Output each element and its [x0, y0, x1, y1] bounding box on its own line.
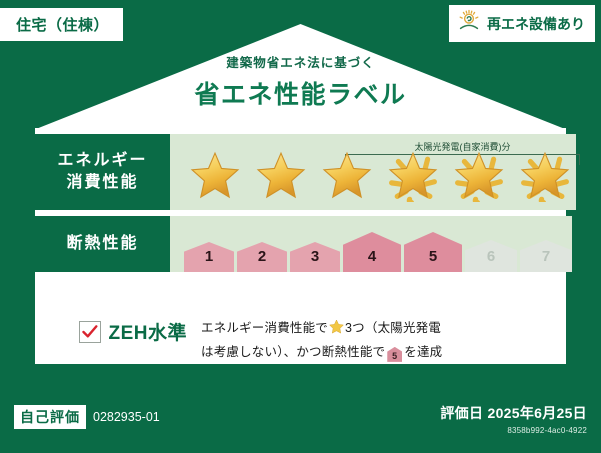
- star-icon: [386, 148, 440, 202]
- star-solar: [382, 146, 444, 204]
- star-icon: [188, 148, 242, 202]
- evaluation-id: 0282935-01: [93, 410, 160, 424]
- insulation-grade-7: 7: [520, 226, 572, 272]
- evaluation-type-tag: 自己評価: [14, 405, 86, 429]
- label-uuid: 8358b992-4ac0-4922: [440, 426, 587, 435]
- title-block: 建築物省エネ法に基づく 省エネ性能ラベル: [0, 52, 601, 111]
- zeh-section: ZEH水準 エネルギー消費性能で3つ（太陽光発電 は考慮しない）、かつ断熱性能で…: [35, 318, 566, 364]
- insulation-grade-3: 3: [290, 226, 340, 272]
- star-solar: [514, 146, 576, 204]
- evaluation-date-value: 2025年6月25日: [487, 405, 587, 421]
- insulation-grade-4: 4: [343, 226, 401, 272]
- star-icon: [452, 148, 506, 202]
- star-icon: [254, 148, 308, 202]
- insulation-row-value: 1234567: [170, 216, 572, 272]
- grade-number: 6: [487, 249, 495, 272]
- house-icon: 1: [184, 242, 234, 272]
- grade-number: 3: [311, 249, 319, 272]
- renewable-badge-label: 再エネ設備あり: [487, 14, 585, 34]
- energy-row-key: エネルギー 消費性能: [35, 134, 170, 210]
- performance-rows: エネルギー 消費性能 太陽光発電(自家消費)分: [35, 134, 566, 278]
- insulation-row-key: 断熱性能: [35, 216, 170, 272]
- check-icon: [82, 325, 98, 339]
- title-subtitle: 建築物省エネ法に基づく: [0, 52, 601, 71]
- energy-key-line1: エネルギー: [57, 150, 147, 172]
- grade-number: 1: [205, 249, 213, 272]
- zeh-desc-line2b: を達成: [404, 345, 442, 359]
- evaluation-date-label: 評価日: [440, 405, 483, 421]
- inline-star-icon: [329, 319, 344, 342]
- house-icon: 3: [290, 242, 340, 272]
- energy-row-value: 太陽光発電(自家消費)分: [170, 134, 576, 210]
- sun-solar-icon: [457, 9, 481, 38]
- energy-key-line2: 消費性能: [66, 172, 138, 194]
- grade-number: 7: [542, 249, 550, 272]
- energy-performance-label: 住宅（住棟） 再エネ設備あり 建築物省エネ法に基づく 省エネ性: [0, 0, 601, 453]
- star-icon: [518, 148, 572, 202]
- insulation-grade-1: 1: [184, 226, 234, 272]
- zeh-checkbox[interactable]: [79, 321, 101, 343]
- star-base: [316, 146, 378, 204]
- zeh-description: エネルギー消費性能で3つ（太陽光発電 は考慮しない）、かつ断熱性能で5を達成: [201, 318, 442, 364]
- insulation-performance-row: 断熱性能 1234567: [35, 216, 566, 272]
- grade-number: 4: [368, 249, 376, 272]
- zeh-mark: ZEH水準: [35, 318, 201, 345]
- house-icon: 7: [520, 240, 572, 272]
- zeh-label: ZEH水準: [108, 318, 187, 345]
- insulation-grade-6: 6: [465, 226, 517, 272]
- house-icon: 5: [404, 232, 462, 272]
- dwelling-type-tag: 住宅（住棟）: [0, 8, 123, 41]
- insulation-key-label: 断熱性能: [66, 233, 138, 255]
- footer-right: 評価日 2025年6月25日 8358b992-4ac0-4922: [440, 403, 587, 435]
- footer-left: 自己評価 0282935-01: [14, 405, 160, 429]
- star-base: [184, 146, 246, 204]
- star-solar: [448, 146, 510, 204]
- house-icon: 2: [237, 242, 287, 272]
- insulation-grade-2: 2: [237, 226, 287, 272]
- grade-number: 5: [429, 249, 437, 272]
- star-rating: [170, 146, 576, 204]
- zeh-desc-line1a: エネルギー消費性能で: [201, 321, 328, 335]
- star-icon: [320, 148, 374, 202]
- inline-house-icon: 5: [387, 347, 402, 362]
- grade-number: 2: [258, 249, 266, 272]
- zeh-desc-line2a: は考慮しない）、かつ断熱性能で: [201, 345, 385, 359]
- insulation-grade-5: 5: [404, 226, 462, 272]
- insulation-grade-scale: 1234567: [170, 216, 572, 272]
- energy-performance-row: エネルギー 消費性能 太陽光発電(自家消費)分: [35, 134, 566, 210]
- house-icon: 6: [465, 240, 517, 272]
- star-base: [250, 146, 312, 204]
- zeh-desc-line1b: 3つ（太陽光発電: [345, 321, 441, 335]
- renewable-equipment-badge: 再エネ設備あり: [449, 5, 595, 42]
- page-title: 省エネ性能ラベル: [0, 75, 601, 111]
- evaluation-date: 評価日 2025年6月25日: [440, 403, 587, 423]
- house-icon: 4: [343, 232, 401, 272]
- label-footer: 自己評価 0282935-01 評価日 2025年6月25日 8358b992-…: [0, 393, 601, 453]
